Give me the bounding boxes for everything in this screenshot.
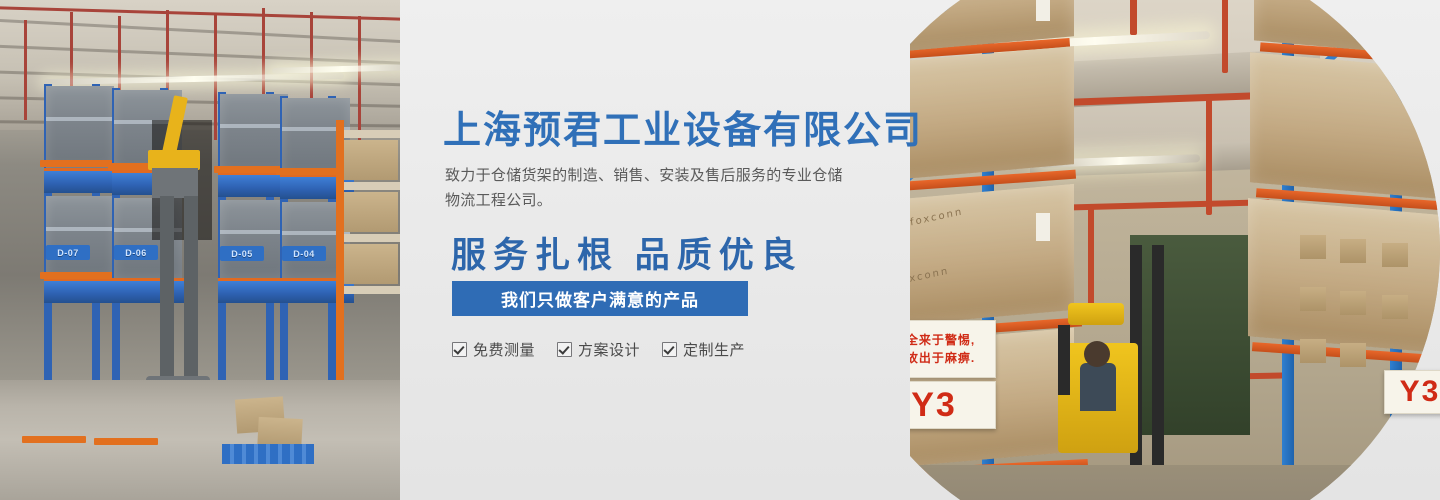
feature-item: 免费测量	[452, 339, 535, 360]
company-slogan: 服务扎根 品质优良	[451, 227, 803, 278]
rack-label: D-04	[282, 246, 326, 261]
hero-banner: D-07 D-06 D-05	[0, 0, 1440, 500]
rack-label: D-06	[114, 245, 158, 260]
checkbox-checked-icon	[452, 342, 467, 357]
rack-label: D-05	[220, 246, 264, 261]
feature-label: 方案设计	[578, 339, 640, 360]
checkbox-checked-icon	[557, 342, 572, 357]
cta-button[interactable]: 我们只做客户满意的产品	[452, 281, 748, 316]
checkbox-checked-icon	[662, 342, 677, 357]
company-subtitle: 致力于仓储货架的制造、销售、安装及售后服务的专业仓储物流工程公司。	[445, 163, 857, 213]
feature-label: 定制生产	[683, 339, 745, 360]
company-title: 上海预君工业设备有限公司	[443, 99, 923, 154]
feature-label: 免费测量	[473, 339, 535, 360]
feature-list: 免费测量 方案设计 定制生产	[452, 339, 745, 360]
feature-item: 方案设计	[557, 339, 640, 360]
feature-item: 定制生产	[662, 339, 745, 360]
left-warehouse-photo: D-07 D-06 D-05	[0, 0, 400, 500]
right-warehouse-photo: foxconn foxconn foxconn	[910, 0, 1440, 500]
banner-content: 上海预君工业设备有限公司 致力于仓储货架的制造、销售、安装及售后服务的专业仓储物…	[443, 0, 923, 500]
rack-label: D-07	[46, 245, 90, 260]
aisle-marker-sign-right: Y3	[1384, 370, 1440, 414]
